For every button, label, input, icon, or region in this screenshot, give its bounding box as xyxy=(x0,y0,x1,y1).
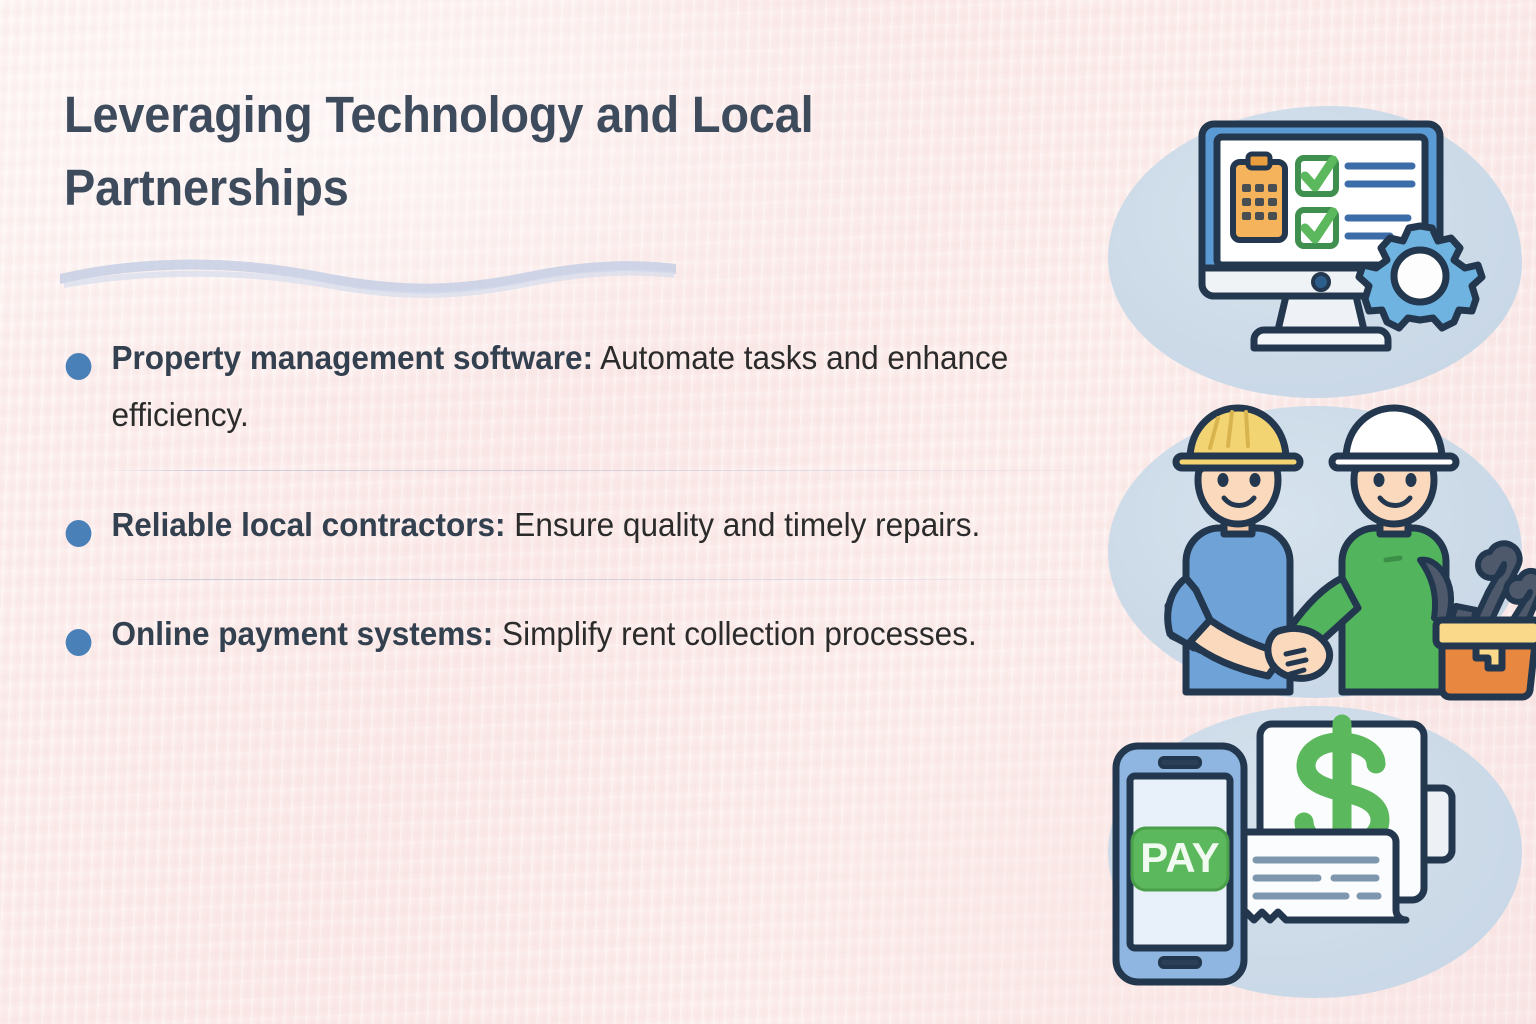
bullet-lead-2: Online payment systems: xyxy=(111,615,493,652)
property-management-software-illustration xyxy=(1090,92,1536,412)
bullet-rest-2: Simplify rent collection processes. xyxy=(493,615,976,652)
bullet-rest-1: Ensure quality and timely repairs. xyxy=(506,506,981,543)
bullet-item-2: Online payment systems: Simplify rent co… xyxy=(58,606,1013,663)
divider-2 xyxy=(110,579,1115,580)
online-payment-illustration: PAY xyxy=(1090,692,1536,1012)
handshake-icon xyxy=(1268,628,1330,678)
illustration-column: PAY xyxy=(1090,0,1536,1024)
handshake-workers-art xyxy=(1090,392,1536,712)
power-indicator-icon xyxy=(1313,274,1329,290)
text-column: Leveraging Technology and Local Partners… xyxy=(0,0,1090,1024)
bullet-dot-icon xyxy=(66,353,92,380)
page-title: Leveraging Technology and Local Partners… xyxy=(64,78,947,225)
bullet-lead-0: Property management software: xyxy=(111,339,593,376)
divider-1 xyxy=(110,470,1115,471)
bullet-dot-icon xyxy=(66,629,92,656)
list-item: Online payment systems: Simplify rent co… xyxy=(58,606,1058,663)
bullet-lead-1: Reliable local contractors: xyxy=(111,506,505,543)
clipboard-icon xyxy=(1233,154,1285,240)
monitor-gear-art xyxy=(1090,92,1536,412)
checkmark-icon xyxy=(1298,158,1336,194)
pay-button-label: PAY xyxy=(1140,834,1219,881)
list-item: Property management software: Automate t… xyxy=(58,330,1058,444)
checkmark-icon xyxy=(1298,210,1336,246)
local-contractors-illustration xyxy=(1090,392,1536,712)
list-item: Reliable local contractors: Ensure quali… xyxy=(58,497,1058,554)
receipt-icon xyxy=(1238,832,1406,920)
bullet-dot-icon xyxy=(66,520,92,547)
bullet-item-0: Property management software: Automate t… xyxy=(58,330,1013,444)
slide-canvas: Leveraging Technology and Local Partners… xyxy=(0,0,1536,1024)
bullet-item-1: Reliable local contractors: Ensure quali… xyxy=(58,497,1013,554)
title-underline-wave-icon xyxy=(58,242,678,298)
bullet-list: Property management software: Automate t… xyxy=(58,330,1058,663)
payment-art: PAY xyxy=(1090,692,1536,1012)
